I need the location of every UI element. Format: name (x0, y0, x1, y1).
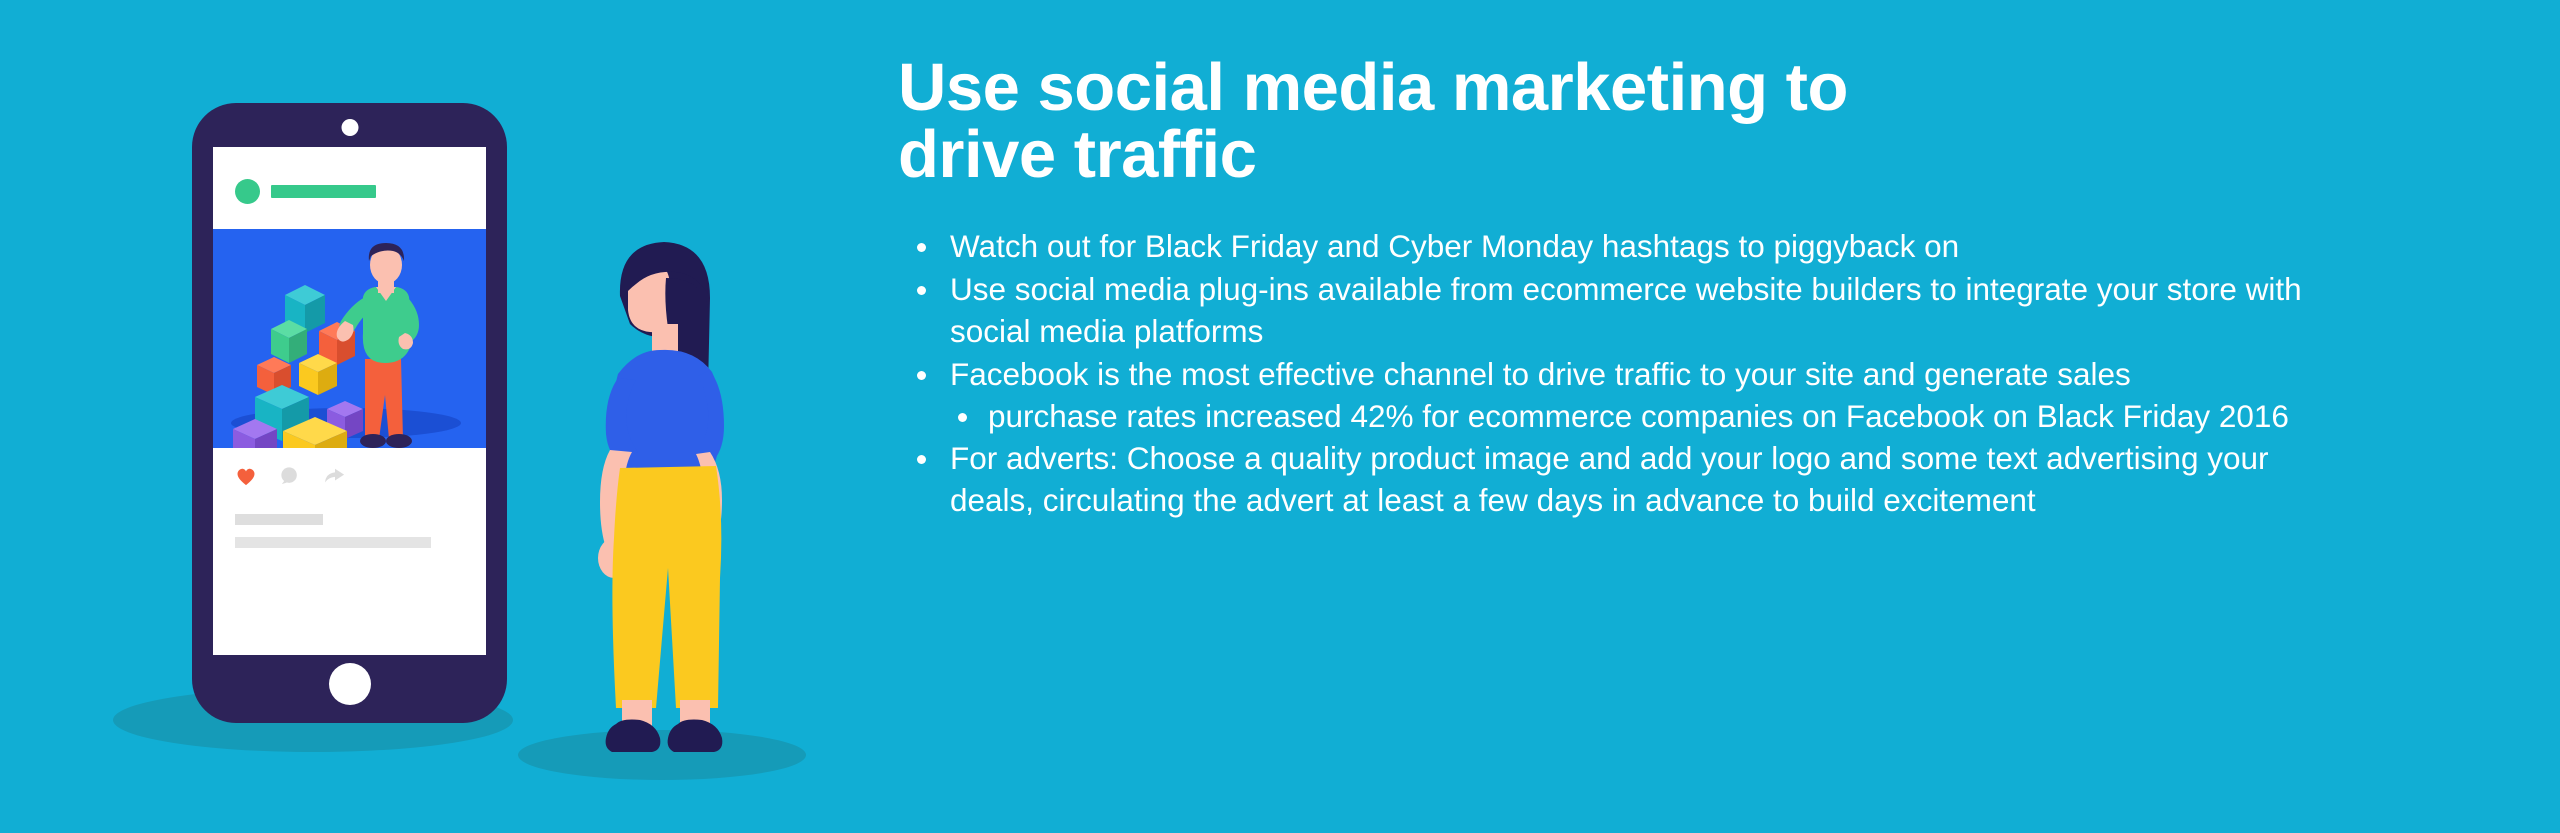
name-placeholder-bar (271, 185, 376, 198)
page-title: Use social media marketing to drive traf… (898, 54, 2318, 188)
bullet-dot-icon (917, 455, 926, 464)
bullet-list: Watch out for Black Friday and Cyber Mon… (898, 226, 2318, 522)
shoe-right (668, 720, 723, 753)
man-with-boxes-illustration (213, 229, 486, 448)
sub-bullet-text: purchase rates increased 42% for ecommer… (988, 398, 2289, 434)
phone-camera-icon (341, 119, 358, 136)
phone-home-button (329, 663, 371, 705)
caption-placeholder-bar-2 (235, 537, 431, 548)
shoe-left (606, 720, 661, 753)
post-header (213, 147, 486, 229)
bullet-dot-icon (917, 286, 926, 295)
phone-screen (213, 147, 486, 655)
avatar (235, 179, 260, 204)
post-actions (213, 448, 486, 655)
list-item: Use social media plug-ins available from… (898, 269, 2318, 353)
bullet-dot-icon (917, 243, 926, 252)
bullet-text: Facebook is the most effective channel t… (950, 356, 2131, 392)
bullet-text: Watch out for Black Friday and Cyber Mon… (950, 228, 1959, 264)
woman-illustration-svg (560, 238, 770, 768)
list-item: Facebook is the most effective channel t… (898, 354, 2318, 438)
smartphone-illustration (192, 103, 507, 723)
content-panel: Use social media marketing to drive traf… (898, 54, 2318, 523)
sub-list-item: purchase rates increased 42% for ecommer… (950, 396, 2318, 438)
caption-placeholder-bar-1 (235, 514, 323, 525)
list-item: Watch out for Black Friday and Cyber Mon… (898, 226, 2318, 268)
slide-root: Use social media marketing to drive traf… (0, 0, 2560, 833)
list-item: For adverts: Choose a quality product im… (898, 438, 2318, 522)
bullet-text: For adverts: Choose a quality product im… (950, 440, 2269, 518)
post-action-icons (235, 466, 347, 486)
woman-figure (560, 238, 770, 758)
heart-icon[interactable] (235, 466, 257, 486)
box-green (271, 320, 307, 363)
post-image (213, 229, 486, 448)
trousers (612, 466, 721, 708)
comment-icon[interactable] (279, 466, 301, 486)
illustration-panel (0, 0, 880, 833)
sub-bullet-list: purchase rates increased 42% for ecommer… (950, 396, 2318, 438)
share-icon[interactable] (323, 466, 347, 486)
bullet-dot-icon (917, 371, 926, 380)
sub-bullet-dot-icon (958, 413, 967, 422)
bullet-text: Use social media plug-ins available from… (950, 271, 2302, 349)
